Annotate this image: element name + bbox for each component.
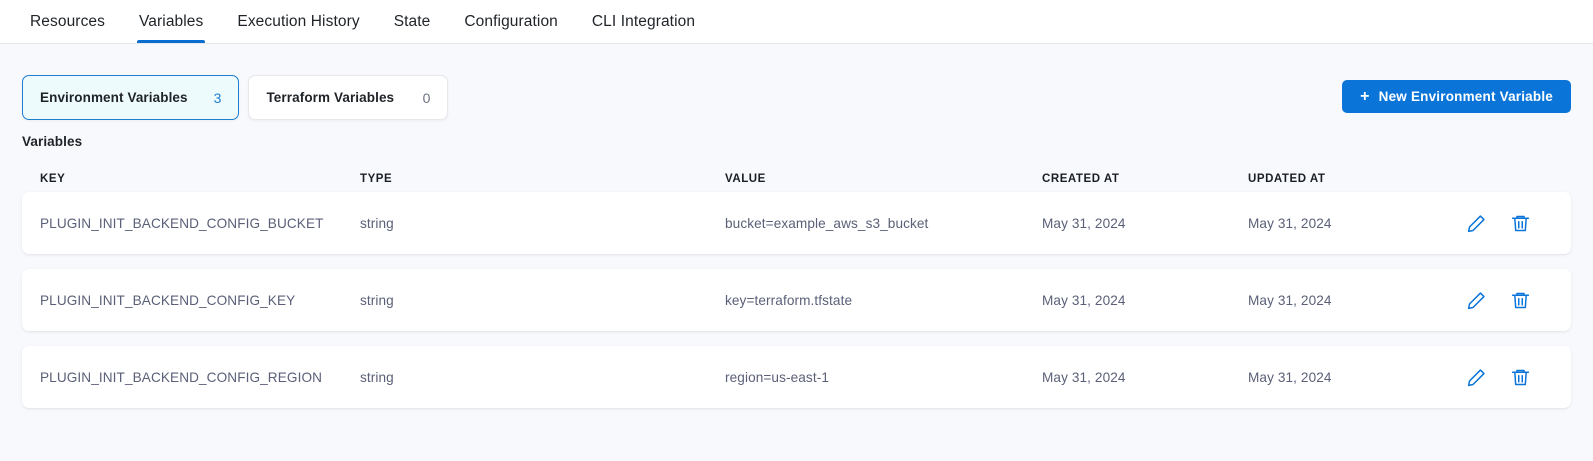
primary-tab-bar: Resources Variables Execution History St… <box>0 0 1593 44</box>
tab-execution-history[interactable]: Execution History <box>220 0 376 43</box>
tab-cli-integration[interactable]: CLI Integration <box>575 0 712 43</box>
cell-value: key=terraform.tfstate <box>725 293 1042 308</box>
column-header-created-at: CREATED AT <box>1042 173 1248 185</box>
pencil-icon <box>1466 213 1487 234</box>
tab-label: Resources <box>30 13 105 31</box>
row-actions <box>1443 289 1553 311</box>
cell-updated-at: May 31, 2024 <box>1248 216 1443 231</box>
delete-row-button[interactable] <box>1509 289 1531 311</box>
variable-type-card-count: 0 <box>423 90 431 106</box>
cell-key: PLUGIN_INIT_BACKEND_CONFIG_KEY <box>40 293 360 308</box>
edit-row-button[interactable] <box>1465 366 1487 388</box>
table-row[interactable]: PLUGIN_INIT_BACKEND_CONFIG_KEY string ke… <box>22 269 1571 331</box>
cell-key: PLUGIN_INIT_BACKEND_CONFIG_BUCKET <box>40 216 360 231</box>
variable-type-card-label: Environment Variables <box>40 90 188 105</box>
variables-table: KEY TYPE VALUE CREATED AT UPDATED AT PLU… <box>22 166 1571 408</box>
table-header-row: KEY TYPE VALUE CREATED AT UPDATED AT <box>22 166 1571 192</box>
variables-toolbar: Environment Variables 3 Terraform Variab… <box>22 44 1571 120</box>
edit-row-button[interactable] <box>1465 289 1487 311</box>
delete-row-button[interactable] <box>1509 366 1531 388</box>
variable-type-card-count: 3 <box>214 90 222 106</box>
row-actions <box>1443 212 1553 234</box>
table-row[interactable]: PLUGIN_INIT_BACKEND_CONFIG_BUCKET string… <box>22 192 1571 254</box>
plus-icon: + <box>1360 89 1370 105</box>
pencil-icon <box>1466 290 1487 311</box>
pencil-icon <box>1466 367 1487 388</box>
tab-resources[interactable]: Resources <box>22 0 122 43</box>
cell-created-at: May 31, 2024 <box>1042 293 1248 308</box>
variable-type-card-label: Terraform Variables <box>266 90 394 105</box>
new-environment-variable-label: New Environment Variable <box>1379 89 1553 104</box>
column-header-key: KEY <box>40 173 360 185</box>
tab-label: Execution History <box>237 13 359 31</box>
cell-value: region=us-east-1 <box>725 370 1042 385</box>
cell-updated-at: May 31, 2024 <box>1248 370 1443 385</box>
tab-configuration[interactable]: Configuration <box>447 0 575 43</box>
cell-created-at: May 31, 2024 <box>1042 370 1248 385</box>
cell-updated-at: May 31, 2024 <box>1248 293 1443 308</box>
table-row[interactable]: PLUGIN_INIT_BACKEND_CONFIG_REGION string… <box>22 346 1571 408</box>
column-header-value: VALUE <box>725 173 1042 185</box>
cell-type: string <box>360 293 725 308</box>
cell-type: string <box>360 370 725 385</box>
variable-type-card-environment[interactable]: Environment Variables 3 <box>22 75 239 120</box>
variables-page: Environment Variables 3 Terraform Variab… <box>0 44 1593 461</box>
cell-key: PLUGIN_INIT_BACKEND_CONFIG_REGION <box>40 370 360 385</box>
tab-label: State <box>394 13 431 31</box>
cell-type: string <box>360 216 725 231</box>
page-title: Variables <box>22 134 1571 149</box>
tab-label: Configuration <box>464 13 558 31</box>
edit-row-button[interactable] <box>1465 212 1487 234</box>
variable-type-card-group: Environment Variables 3 Terraform Variab… <box>22 75 448 120</box>
trash-icon <box>1510 290 1531 311</box>
new-environment-variable-button[interactable]: + New Environment Variable <box>1342 80 1571 113</box>
tab-label: CLI Integration <box>592 13 695 31</box>
trash-icon <box>1510 213 1531 234</box>
tab-variables[interactable]: Variables <box>122 0 220 43</box>
tab-label: Variables <box>139 13 203 31</box>
row-actions <box>1443 366 1553 388</box>
trash-icon <box>1510 367 1531 388</box>
cell-created-at: May 31, 2024 <box>1042 216 1248 231</box>
variable-type-card-terraform[interactable]: Terraform Variables 0 <box>248 75 448 120</box>
column-header-type: TYPE <box>360 173 725 185</box>
delete-row-button[interactable] <box>1509 212 1531 234</box>
tab-state[interactable]: State <box>377 0 448 43</box>
cell-value: bucket=example_aws_s3_bucket <box>725 216 1042 231</box>
column-header-updated-at: UPDATED AT <box>1248 173 1443 185</box>
